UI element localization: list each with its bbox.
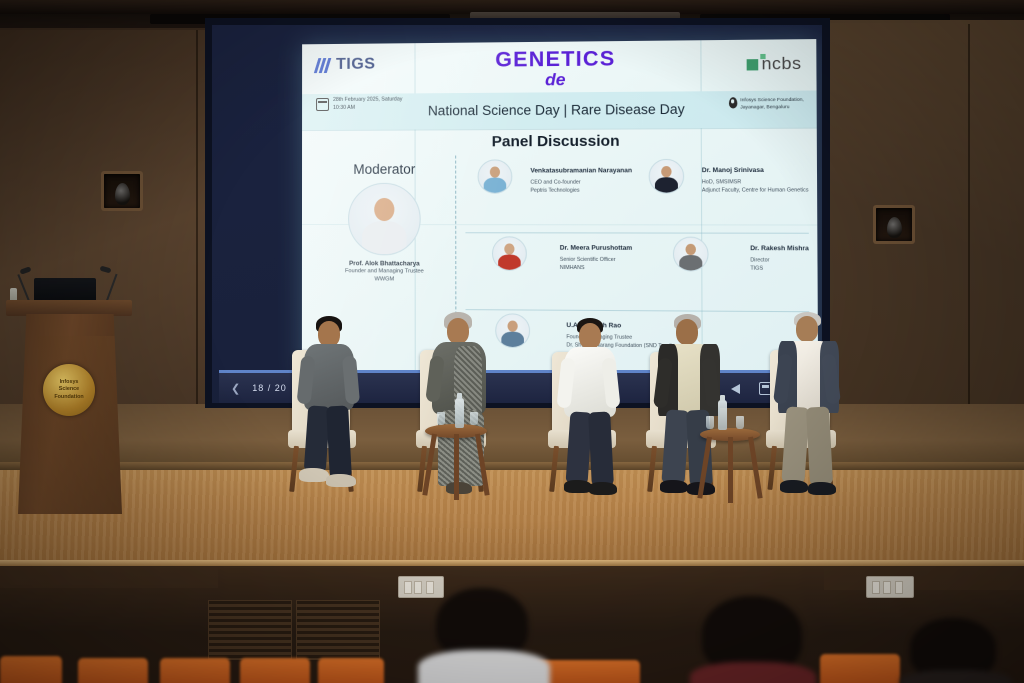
panelist-name: Dr. Rakesh Mishra bbox=[750, 245, 809, 252]
moderator-avatar bbox=[348, 183, 421, 256]
water-bottle bbox=[455, 398, 464, 428]
panelist-avatar bbox=[649, 159, 685, 194]
side-table bbox=[700, 428, 760, 510]
event-location-text: Infosys Science Foundation, Jayanagar, B… bbox=[740, 97, 804, 113]
ncbs-logo: ncbs bbox=[747, 54, 802, 75]
slide-header: TIGS GENETICS de ncbs bbox=[302, 39, 817, 96]
slide-title-block: GENETICS de bbox=[302, 45, 816, 92]
share-icon[interactable] bbox=[731, 383, 745, 394]
ncbs-wordmark: ncbs bbox=[761, 54, 801, 75]
moderator-block: Moderator Prof. Alok Bhattacharya Founde… bbox=[318, 162, 451, 285]
water-bottle bbox=[718, 400, 727, 430]
panelist-grid: Venkatasubramanian Narayanan CEO and Co-… bbox=[465, 158, 809, 394]
panelist-entry: Dr. Meera Purushottam Senior Scientific … bbox=[465, 236, 632, 273]
conference-hall-photo: TIGS GENETICS de ncbs 28th February 2025… bbox=[0, 0, 1024, 683]
wall-socket[interactable] bbox=[866, 576, 914, 598]
water-glass bbox=[736, 416, 744, 429]
water-glass bbox=[706, 416, 714, 429]
ncbs-mark-icon bbox=[747, 59, 759, 70]
panelist-name: Dr. Manoj Srinivasa bbox=[702, 167, 764, 174]
audience-member bbox=[900, 618, 1010, 683]
plaque-text: Infosys Science Foundation bbox=[54, 379, 83, 401]
niche-object bbox=[115, 183, 130, 205]
wall-niche-left bbox=[104, 174, 140, 208]
panelist-avatar bbox=[495, 313, 530, 348]
infosys-science-foundation-plaque: Infosys Science Foundation bbox=[43, 364, 95, 416]
panelist-person-1 bbox=[296, 316, 366, 506]
panelist-role: HoD, SMSIMSR Adjunct Faculty, Centre for… bbox=[702, 178, 809, 195]
panelist-entry: Dr. Rakesh Mishra Director TIGS bbox=[638, 237, 809, 274]
slide-info-band: 28th February 2025, Saturday 10:30 AM Na… bbox=[302, 90, 817, 130]
panelist-entry: Dr. Manoj Srinivasa HoD, SMSIMSR Adjunct… bbox=[638, 158, 808, 195]
panelist-avatar bbox=[477, 159, 512, 193]
audience-member bbox=[690, 596, 816, 683]
side-table bbox=[425, 424, 487, 506]
water-glass bbox=[437, 412, 445, 425]
moderator-label: Moderator bbox=[318, 162, 451, 177]
panelist-role: Director TIGS bbox=[750, 256, 809, 273]
wall-niche-right bbox=[876, 208, 912, 241]
stage-floor bbox=[0, 470, 1024, 565]
chevron-left-icon[interactable]: ❮ bbox=[231, 382, 240, 395]
location-pin-icon bbox=[729, 97, 737, 108]
panelist-avatar bbox=[673, 237, 709, 272]
panelist-avatar bbox=[492, 236, 527, 271]
event-location: Infosys Science Foundation, Jayanagar, B… bbox=[729, 97, 804, 113]
panelist-role: CEO and Co-founder Peptris Technologies bbox=[530, 178, 632, 195]
panelist-role: Senior Scientific Officer NIMHANS bbox=[560, 256, 633, 273]
panelist-person-5 bbox=[772, 312, 846, 512]
slide-subtitle: de bbox=[302, 68, 816, 92]
panelist-name: Dr. Meera Purushottam bbox=[560, 245, 632, 252]
niche-object bbox=[887, 217, 902, 238]
lectern-top bbox=[6, 300, 132, 316]
panelist-name: Venkatasubramanian Narayanan bbox=[530, 167, 632, 174]
slide-section-title: Panel Discussion bbox=[302, 132, 817, 151]
lectern: Infosys Science Foundation bbox=[8, 300, 130, 516]
panelist-person-3 bbox=[556, 318, 626, 513]
water-glass bbox=[470, 412, 478, 425]
page-indicator: 18 / 20 bbox=[252, 383, 287, 393]
audience-member bbox=[418, 588, 548, 683]
moderator-role: Founder and Managing Trustee WWGM bbox=[318, 267, 451, 284]
panelist-entry: Venkatasubramanian Narayanan CEO and Co-… bbox=[465, 159, 632, 195]
